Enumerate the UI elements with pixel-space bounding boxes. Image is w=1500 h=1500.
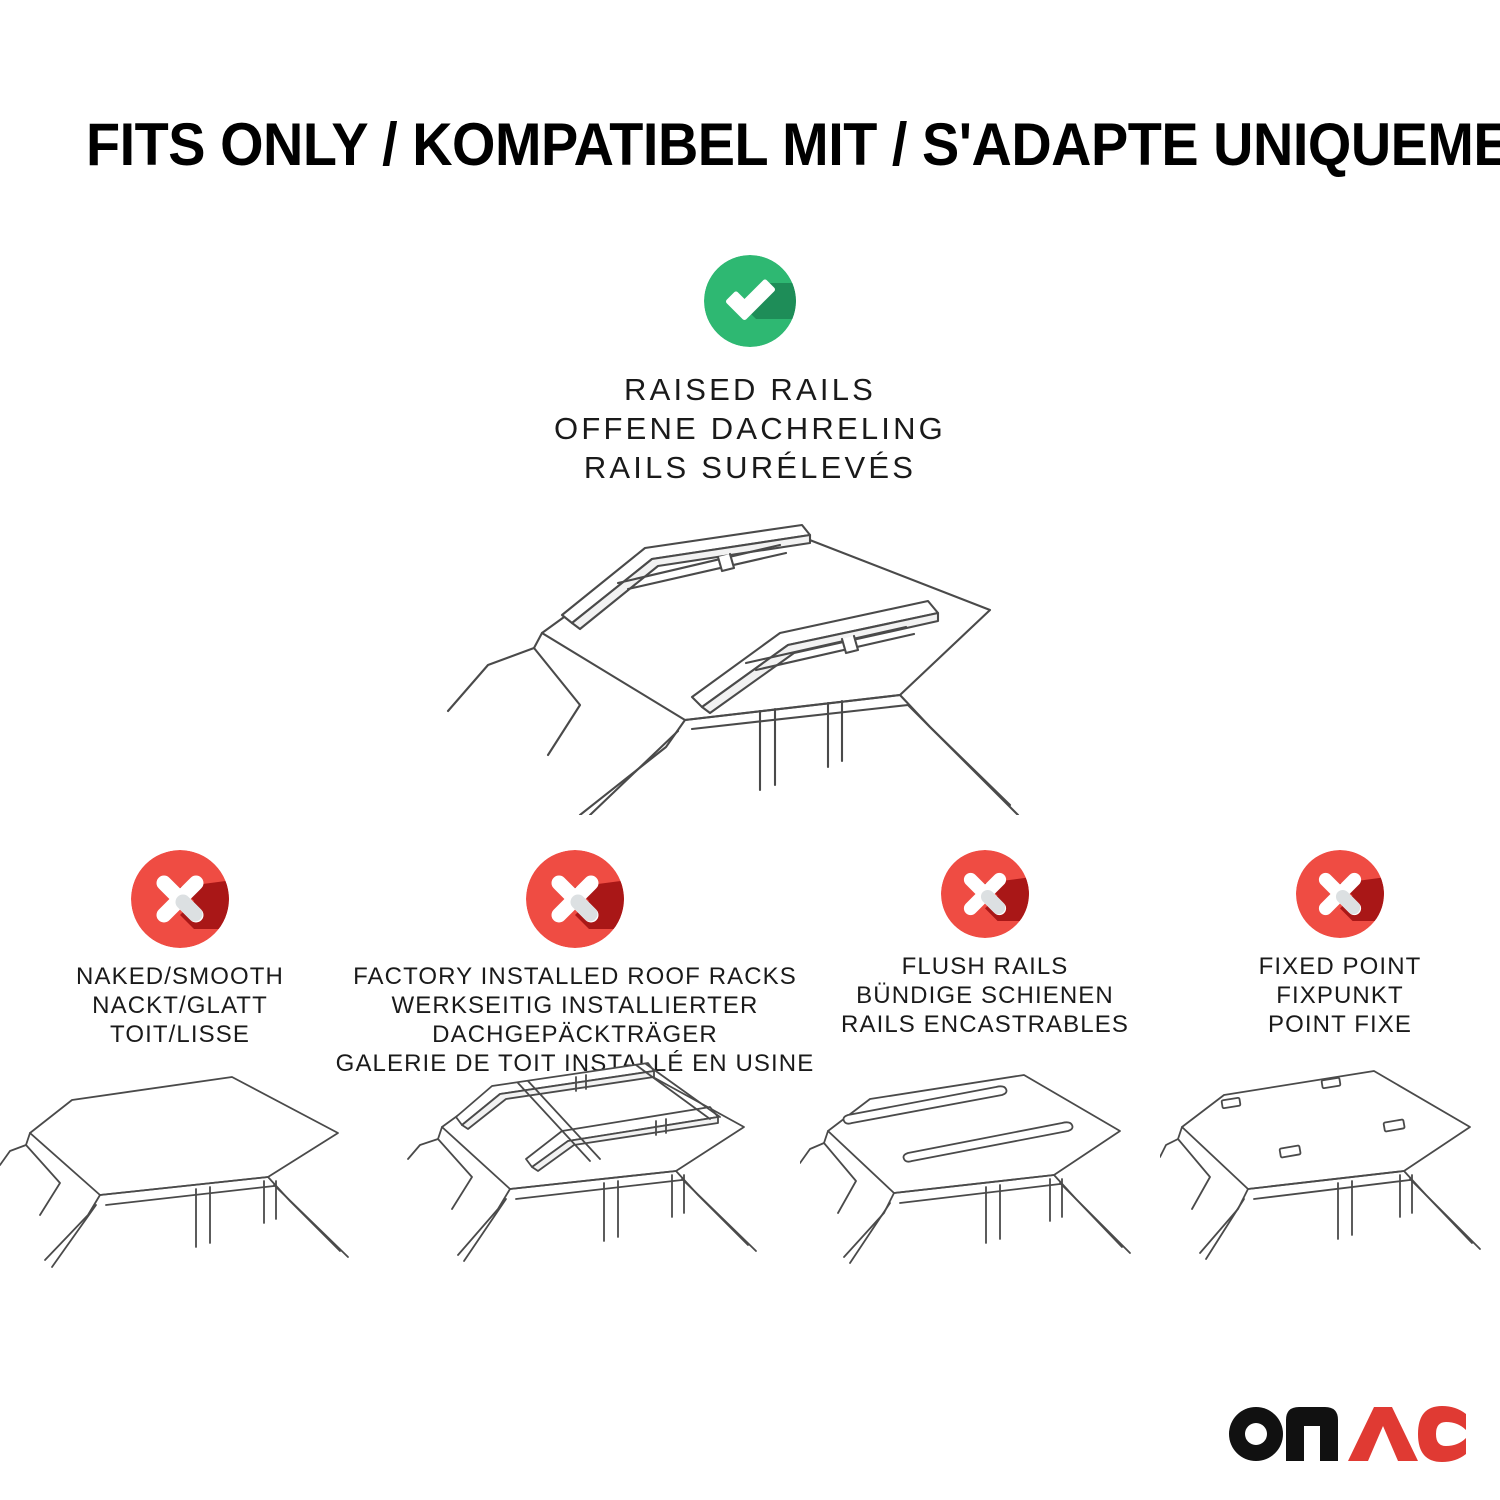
incompatible-item-flush-rails: FLUSH RAILS BÜNDIGE SCHIENEN RAILS ENCAS… — [790, 850, 1180, 1039]
incompatible-label-line-1: FIXED POINT — [1259, 952, 1422, 981]
incompatible-labels: FLUSH RAILS BÜNDIGE SCHIENEN RAILS ENCAS… — [841, 952, 1129, 1039]
incompatible-section: NAKED/SMOOTH NACKT/GLATT TOIT/LISSE — [0, 850, 1500, 1078]
x-circle-icon — [526, 850, 624, 948]
incompatible-item-naked-smooth: NAKED/SMOOTH NACKT/GLATT TOIT/LISSE — [0, 850, 360, 1049]
check-circle-icon — [704, 255, 796, 347]
car-roof-raised-rails-illustration — [430, 515, 1070, 815]
car-roof-flush-rails-illustration — [800, 1055, 1160, 1305]
omac-logo — [1228, 1398, 1468, 1462]
incompatible-item-factory-roof-racks: FACTORY INSTALLED ROOF RACKS WERKSEITIG … — [360, 850, 790, 1078]
compatible-label-line-1: RAISED RAILS — [0, 370, 1500, 409]
compatible-label-line-2: OFFENE DACHRELING — [0, 409, 1500, 448]
compatible-labels: RAISED RAILS OFFENE DACHRELING RAILS SUR… — [0, 370, 1500, 487]
incompatible-illustrations — [0, 1055, 1500, 1305]
car-roof-fixed-point-illustration — [1160, 1055, 1500, 1305]
x-circle-icon — [1296, 850, 1384, 938]
incompatible-label-line-3: RAILS ENCASTRABLES — [841, 1010, 1129, 1039]
incompatible-label-line-3: TOIT/LISSE — [76, 1020, 284, 1049]
incompatible-label-line-1: FACTORY INSTALLED ROOF RACKS — [336, 962, 815, 991]
incompatible-label-line-1: FLUSH RAILS — [841, 952, 1129, 981]
incompatible-label-line-3: POINT FIXE — [1259, 1010, 1422, 1039]
incompatible-labels: NAKED/SMOOTH NACKT/GLATT TOIT/LISSE — [76, 962, 284, 1049]
incompatible-label-line-2: FIXPUNKT — [1259, 981, 1422, 1010]
incompatible-label-line-1: NAKED/SMOOTH — [76, 962, 284, 991]
car-roof-factory-roof-racks-illustration — [400, 1055, 800, 1305]
compatible-section: RAISED RAILS OFFENE DACHRELING RAILS SUR… — [0, 255, 1500, 487]
fitment-compatibility-graphic: FITS ONLY / KOMPATIBEL MIT / S'ADAPTE UN… — [0, 0, 1500, 1500]
incompatible-labels: FIXED POINT FIXPUNKT POINT FIXE — [1259, 952, 1422, 1039]
incompatible-label-line-2: WERKSEITIG INSTALLIERTER — [336, 991, 815, 1020]
incompatible-item-fixed-point: FIXED POINT FIXPUNKT POINT FIXE — [1180, 850, 1500, 1039]
incompatible-label-line-2: BÜNDIGE SCHIENEN — [841, 981, 1129, 1010]
page-title: FITS ONLY / KOMPATIBEL MIT / S'ADAPTE UN… — [86, 112, 1332, 178]
car-roof-naked-smooth-illustration — [0, 1055, 400, 1305]
compatible-label-line-3: RAILS SURÉLEVÉS — [0, 448, 1500, 487]
incompatible-label-line-3: DACHGEPÄCKTRÄGER — [336, 1020, 815, 1049]
x-circle-icon — [941, 850, 1029, 938]
incompatible-label-line-2: NACKT/GLATT — [76, 991, 284, 1020]
x-circle-icon — [131, 850, 229, 948]
